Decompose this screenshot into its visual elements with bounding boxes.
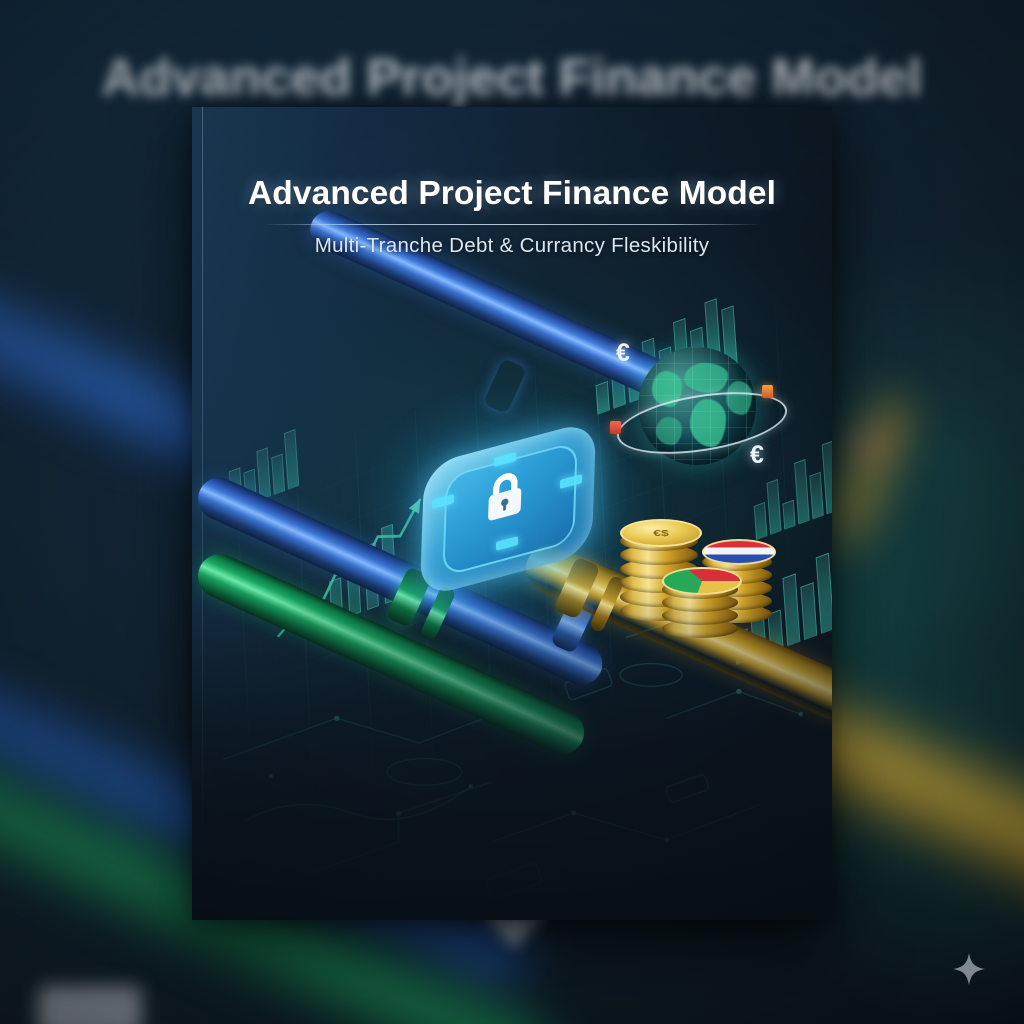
currency-marker-right bbox=[762, 385, 773, 398]
background-title-text: Advanced Project Finance Model bbox=[0, 48, 1024, 108]
currency-marker-left bbox=[610, 421, 621, 434]
sparkle-icon bbox=[952, 952, 986, 986]
page-title: Advanced Project Finance Model bbox=[192, 175, 832, 213]
euro-symbol-upper-left: € bbox=[616, 339, 630, 368]
background-pink-highlight bbox=[848, 430, 888, 464]
world-globe: € € bbox=[610, 329, 800, 519]
coin-face-flag bbox=[702, 539, 776, 565]
security-chip bbox=[414, 425, 602, 597]
title-divider bbox=[262, 224, 762, 225]
coin-face-pie-chart bbox=[662, 567, 742, 595]
cover-title-block: Advanced Project Finance Model Multi-Tra… bbox=[192, 175, 832, 258]
coin-face-currency: €$ bbox=[620, 519, 702, 547]
screenshot-root: Advanced Project Finance Model Multi-Tra… bbox=[0, 0, 1024, 1024]
background-ui-chip bbox=[38, 986, 142, 1024]
book-cover-card: € € €$ bbox=[192, 107, 832, 920]
page-subtitle: Multi-Tranche Debt & Currancy Fleskibili… bbox=[192, 234, 832, 258]
euro-symbol-lower-right: € bbox=[750, 441, 764, 470]
gold-coin-stacks: €$ bbox=[620, 511, 776, 635]
